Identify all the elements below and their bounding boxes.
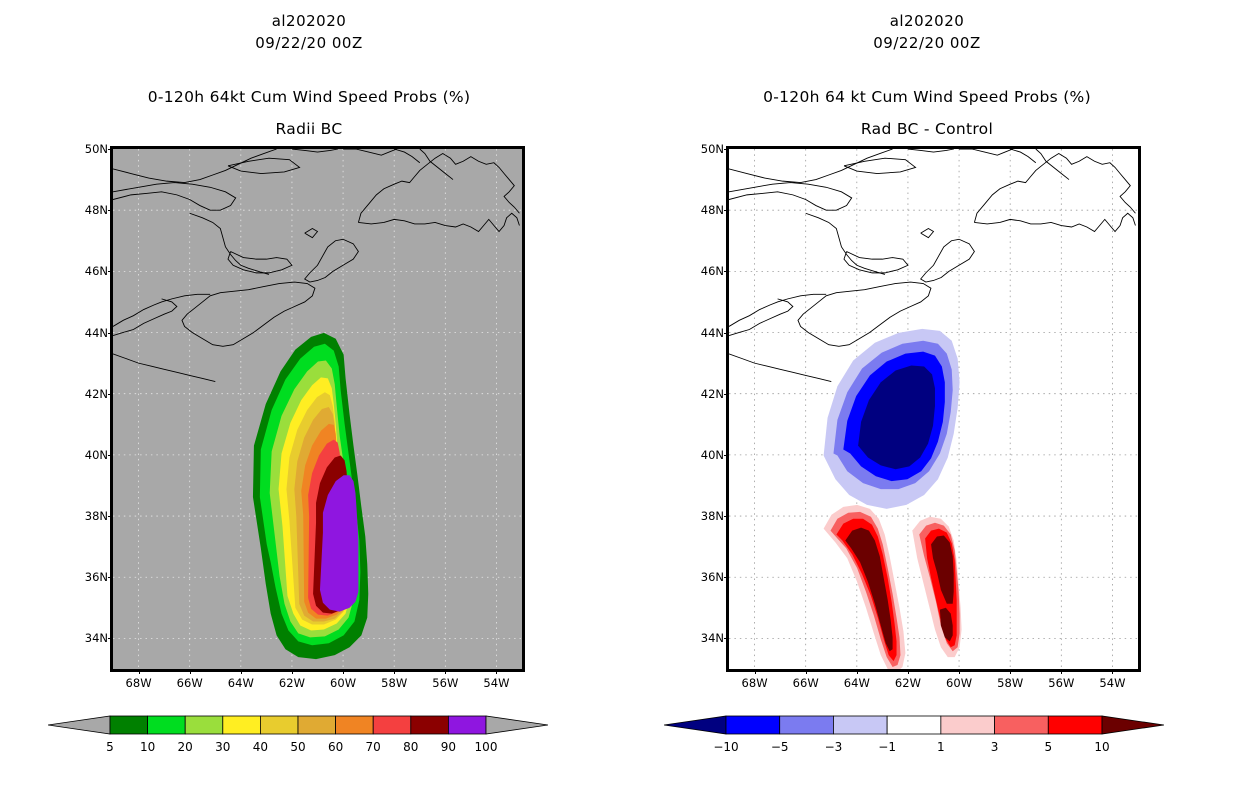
panel-rad-bc-minus-control: al202020 09/22/20 00Z 0-120h 64 kt Cum W… (618, 0, 1236, 800)
coastline-segment (729, 183, 852, 211)
ytick-mark-42n (108, 394, 113, 395)
colorbar-swatch[interactable] (833, 716, 887, 734)
map-rad-bc-minus-control[interactable]: 50N48N46N44N42N40N38N36N34N68W66W64W62W6… (726, 146, 1141, 672)
colorbar-over-arrow (486, 716, 548, 734)
ytick-mark-46n (108, 271, 113, 272)
coastline-segment (358, 213, 519, 231)
ytick-label-50n: 50N (701, 142, 724, 156)
xtick-label-54w: 54W (1099, 676, 1125, 690)
map-right-clip (729, 149, 1138, 669)
right-title: 0-120h 64 kt Cum Wind Speed Probs (%) (618, 88, 1236, 106)
coastline-segment (113, 354, 215, 382)
ytick-label-34n: 34N (701, 631, 724, 645)
xtick-label-68w: 68W (126, 676, 152, 690)
ytick-mark-44n (724, 333, 729, 334)
colorbar-tick-label: 100 (475, 740, 498, 754)
colorbar-tick-label: −1 (878, 740, 896, 754)
xtick-label-62w: 62W (895, 676, 921, 690)
ytick-mark-38n (724, 516, 729, 517)
ytick-mark-40n (108, 455, 113, 456)
colorbar-swatch[interactable] (780, 716, 834, 734)
colorbar-tick-label: 20 (178, 740, 193, 754)
ytick-label-38n: 38N (701, 509, 724, 523)
ytick-label-46n: 46N (85, 264, 108, 278)
xtick-label-60w: 60W (946, 676, 972, 690)
xtick-mark-62w (292, 669, 293, 674)
colorbar-tick-label: −3 (825, 740, 843, 754)
xtick-label-56w: 56W (1048, 676, 1074, 690)
coastline-segment (113, 149, 277, 183)
coastline-segment (358, 154, 519, 223)
coastline-segment (292, 149, 338, 152)
coastline-segment (908, 149, 954, 152)
xtick-label-62w: 62W (279, 676, 305, 690)
ytick-mark-36n (108, 577, 113, 578)
left-subtitle: Radii BC (0, 120, 618, 138)
ytick-label-50n: 50N (85, 142, 108, 156)
colorbar-left-swatches (48, 712, 548, 738)
contour-fills-right (824, 329, 962, 669)
colorbar-tick-label: 1 (937, 740, 945, 754)
map-left-canvas (113, 149, 522, 669)
ytick-label-40n: 40N (701, 448, 724, 462)
colorbar-swatch[interactable] (223, 716, 261, 734)
ytick-mark-50n (724, 149, 729, 150)
ytick-mark-38n (108, 516, 113, 517)
ytick-mark-46n (724, 271, 729, 272)
coastline-segment (959, 149, 1013, 155)
colorbar-tick-label: 50 (290, 740, 305, 754)
ytick-mark-40n (724, 455, 729, 456)
right-datetime: 09/22/20 00Z (618, 34, 1236, 52)
coastline-segment (113, 299, 177, 336)
ytick-mark-44n (108, 333, 113, 334)
xtick-label-64w: 64W (228, 676, 254, 690)
coastline-segment (1010, 149, 1036, 163)
ytick-label-44n: 44N (85, 326, 108, 340)
colorbar-swatch[interactable] (995, 716, 1049, 734)
ytick-label-34n: 34N (85, 631, 108, 645)
coastline-segment (420, 149, 453, 180)
left-storm-id: al202020 (0, 12, 618, 30)
ytick-label-40n: 40N (85, 448, 108, 462)
xtick-mark-64w (241, 669, 242, 674)
coastline-segment (305, 228, 318, 237)
xtick-mark-66w (190, 669, 191, 674)
colorbar-swatch[interactable] (411, 716, 449, 734)
coastline-segment (729, 354, 831, 382)
xtick-mark-56w (1061, 669, 1062, 674)
colorbar-tick-label: −10 (713, 740, 738, 754)
ytick-label-36n: 36N (701, 570, 724, 584)
colorbar-swatch[interactable] (185, 716, 223, 734)
coastline-segment (974, 213, 1135, 231)
ytick-mark-36n (724, 577, 729, 578)
coastline-segment (190, 213, 269, 274)
map-radii-bc[interactable]: 50N48N46N44N42N40N38N36N34N68W66W64W62W6… (110, 146, 525, 672)
xtick-mark-68w (755, 669, 756, 674)
xtick-mark-60w (343, 669, 344, 674)
colorbar-swatch[interactable] (448, 716, 486, 734)
xtick-mark-58w (1010, 669, 1011, 674)
xtick-mark-66w (806, 669, 807, 674)
xtick-mark-64w (857, 669, 858, 674)
colorbar-tick-label: 70 (366, 740, 381, 754)
coastline-segment (113, 183, 236, 211)
ytick-label-48n: 48N (701, 203, 724, 217)
colorbar-swatch[interactable] (1048, 716, 1102, 734)
coastline-segment (974, 154, 1135, 223)
colorbar-swatch[interactable] (941, 716, 995, 734)
ytick-mark-34n (724, 638, 729, 639)
left-datetime: 09/22/20 00Z (0, 34, 618, 52)
xtick-label-58w: 58W (997, 676, 1023, 690)
colorbar-swatch[interactable] (336, 716, 374, 734)
ytick-label-38n: 38N (85, 509, 108, 523)
ytick-label-48n: 48N (85, 203, 108, 217)
colorbar-under-arrow (664, 716, 726, 734)
map-right-canvas (729, 149, 1138, 669)
xtick-label-56w: 56W (432, 676, 458, 690)
ytick-label-42n: 42N (701, 387, 724, 401)
colorbar-tick-label: 10 (140, 740, 155, 754)
coastline-segment (806, 213, 885, 274)
coastline-segment (844, 158, 916, 173)
colorbar-tick-label: 3 (991, 740, 999, 754)
coastline-segment (182, 282, 315, 346)
xtick-mark-68w (139, 669, 140, 674)
xtick-mark-54w (1112, 669, 1113, 674)
colorbar-tick-label: 5 (1044, 740, 1052, 754)
coastline-segment (921, 228, 934, 237)
xtick-label-66w: 66W (177, 676, 203, 690)
colorbar-tick-label: 80 (403, 740, 418, 754)
ytick-label-42n: 42N (85, 387, 108, 401)
colorbar-rad-bc-minus-control[interactable]: −10−5−3−113510 (664, 712, 1164, 772)
colorbar-swatch[interactable] (110, 716, 148, 734)
xtick-mark-54w (496, 669, 497, 674)
xtick-label-60w: 60W (330, 676, 356, 690)
colorbar-right-swatches (664, 712, 1164, 738)
colorbar-radii-bc[interactable]: 5102030405060708090100 (48, 712, 548, 772)
colorbar-tick-label: 90 (441, 740, 456, 754)
xtick-mark-60w (959, 669, 960, 674)
coastline-segment (343, 149, 397, 155)
xtick-label-64w: 64W (844, 676, 870, 690)
xtick-mark-62w (908, 669, 909, 674)
colorbar-tick-label: 5 (106, 740, 114, 754)
xtick-label-54w: 54W (483, 676, 509, 690)
ytick-label-36n: 36N (85, 570, 108, 584)
xtick-label-68w: 68W (742, 676, 768, 690)
colorbar-over-arrow (1102, 716, 1164, 734)
coastline-segment (921, 239, 975, 282)
ytick-mark-50n (108, 149, 113, 150)
left-title: 0-120h 64kt Cum Wind Speed Probs (%) (0, 88, 618, 106)
ytick-mark-48n (724, 210, 729, 211)
panel-radii-bc: al202020 09/22/20 00Z 0-120h 64kt Cum Wi… (0, 0, 618, 800)
colorbar-tick-label: 40 (253, 740, 268, 754)
ytick-label-46n: 46N (701, 264, 724, 278)
ytick-mark-42n (724, 394, 729, 395)
ytick-label-44n: 44N (701, 326, 724, 340)
ytick-mark-34n (108, 638, 113, 639)
map-left-clip (113, 149, 522, 669)
colorbar-swatch[interactable] (298, 716, 336, 734)
coastline-segment (729, 299, 793, 336)
coastline-segment (228, 158, 300, 173)
xtick-mark-58w (394, 669, 395, 674)
xtick-mark-56w (445, 669, 446, 674)
colorbar-under-arrow (48, 716, 110, 734)
colorbar-swatch[interactable] (148, 716, 186, 734)
colorbar-swatch[interactable] (373, 716, 411, 734)
xtick-label-66w: 66W (793, 676, 819, 690)
coastline-segment (1036, 149, 1069, 180)
colorbar-tick-label: 30 (215, 740, 230, 754)
colorbar-swatch[interactable] (726, 716, 780, 734)
colorbar-swatch[interactable] (887, 716, 941, 734)
xtick-label-58w: 58W (381, 676, 407, 690)
coastline-segment (394, 149, 420, 163)
colorbar-swatch[interactable] (260, 716, 298, 734)
right-subtitle: Rad BC - Control (618, 120, 1236, 138)
colorbar-tick-label: −5 (771, 740, 789, 754)
contour-fills-left (253, 333, 368, 659)
right-storm-id: al202020 (618, 12, 1236, 30)
coastline-segment (305, 239, 359, 282)
ytick-mark-48n (108, 210, 113, 211)
coastline-segment (729, 149, 893, 183)
colorbar-tick-label: 60 (328, 740, 343, 754)
colorbar-tick-label: 10 (1094, 740, 1109, 754)
